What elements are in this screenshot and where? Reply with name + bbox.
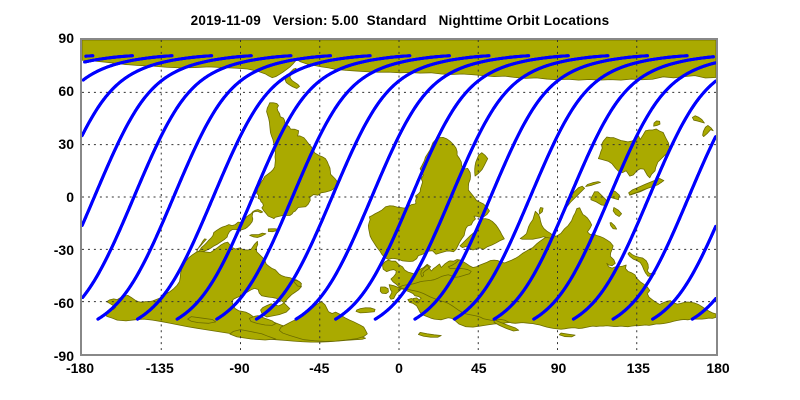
x-tick-label: -45 bbox=[289, 361, 349, 375]
x-tick-label: 45 bbox=[449, 361, 509, 375]
x-tick-label: 180 bbox=[688, 361, 748, 375]
x-tick-label: -135 bbox=[130, 361, 190, 375]
x-tick-label: -90 bbox=[210, 361, 270, 375]
x-tick-label: 0 bbox=[369, 361, 429, 375]
x-tick-label: -180 bbox=[50, 361, 110, 375]
orbit-map-figure: 2019-11-09 Version: 5.00 Standard Nightt… bbox=[0, 0, 800, 400]
x-axis-ticks: -180-135-90-4504590135180 bbox=[0, 0, 800, 400]
x-tick-label: 135 bbox=[608, 361, 668, 375]
x-tick-label: 90 bbox=[529, 361, 589, 375]
